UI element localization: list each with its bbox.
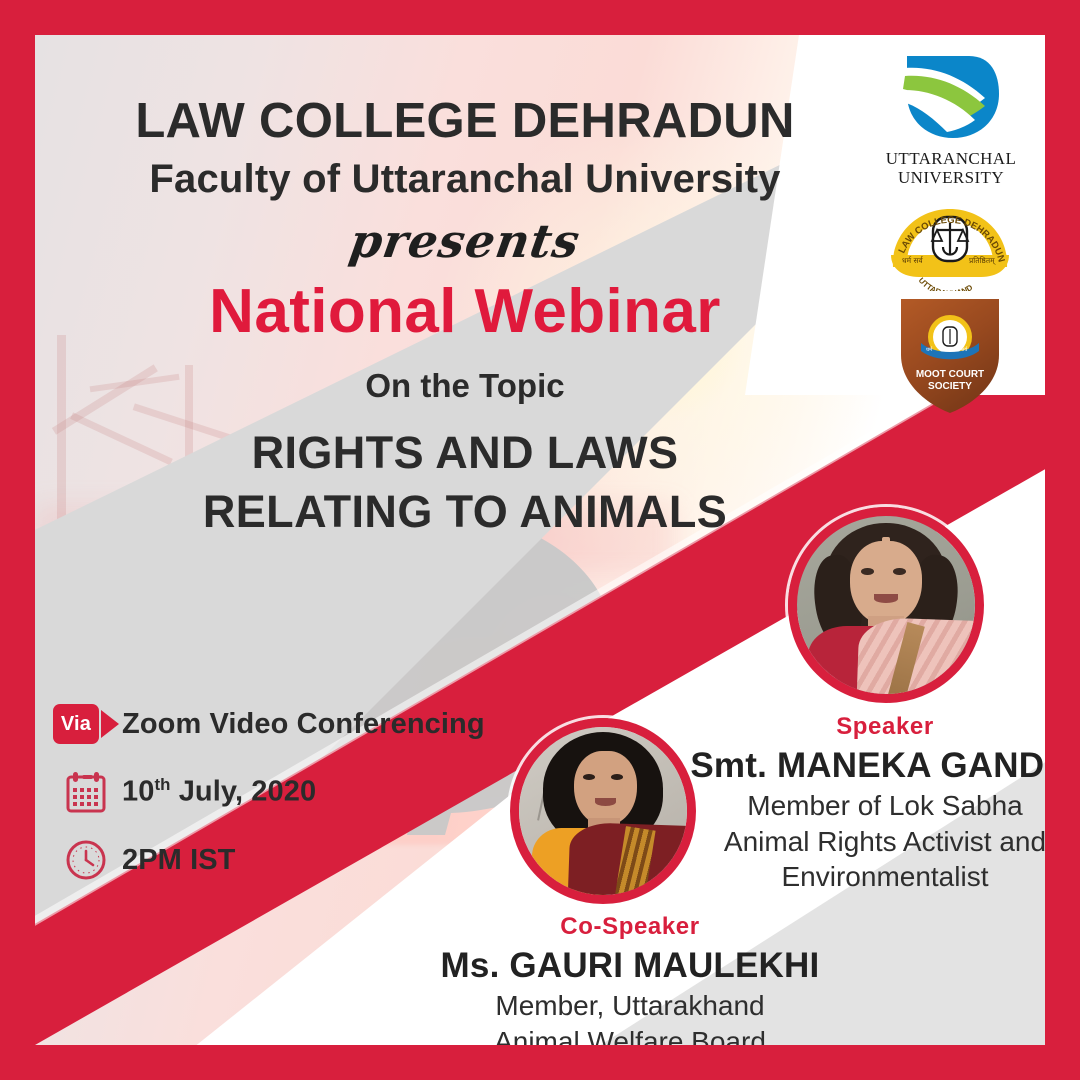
speaker-role-label: Speaker [690, 713, 1045, 741]
shield-line-1: MOOT COURT [916, 369, 984, 380]
topic-intro-label: On the Topic [35, 367, 895, 405]
time-text: 2PM IST [122, 844, 236, 877]
speaker-affiliation-line-1: Member of Lok Sabha [690, 788, 1045, 824]
cospeaker-name: Ms. GAURI MAULEKHI [410, 946, 850, 986]
university-swoosh-icon [899, 50, 1003, 142]
seal-ribbon-left: धर्म सर्व [902, 256, 924, 265]
cospeaker-affiliation-line-1: Member, Uttarakhand [410, 988, 850, 1024]
topic-line-2: RELATING TO ANIMALS [35, 482, 895, 541]
video-camera-icon: Via [50, 704, 122, 744]
date-day: 10 [122, 776, 154, 808]
detail-row-time: 2PM IST [50, 826, 520, 894]
event-type-heading: National Webinar [35, 276, 895, 347]
speaker-name: Smt. MANEKA GANDHI [690, 746, 1045, 786]
detail-row-platform: Via Zoom Video Conferencing [50, 690, 520, 758]
shield-line-2: SOCIETY [928, 381, 972, 392]
law-college-dehradun-seal: LAW COLLEGE DEHRADUN UTTARAKHAND धर्म सर… [885, 195, 1015, 291]
calendar-icon [50, 770, 122, 814]
date-ordinal: th [154, 775, 170, 794]
speaker-affiliation-line-2: Animal Rights Activist and [690, 824, 1045, 860]
svg-text:UTTARAKHAND: UTTARAKHAND [917, 276, 975, 291]
via-label: Via [53, 704, 99, 744]
moot-court-society-shield: धर्म सर्व MOOT COURT SOCIETY [897, 293, 1003, 417]
cospeaker-affiliation-line-2: Animal Welfare Board [410, 1024, 850, 1045]
clock-icon [50, 838, 122, 882]
event-details-list: Via Zoom Video Conferencing [50, 690, 520, 894]
faculty-subtitle: Faculty of Uttaranchal University [35, 158, 895, 200]
webinar-poster: LAW COLLEGE DEHRADUN Faculty of Uttaranc… [0, 0, 1080, 1080]
presents-script-text: presents [35, 214, 899, 268]
svg-text:सर्व: सर्व [961, 346, 968, 353]
cospeaker-role-label: Co-Speaker [410, 913, 850, 941]
camera-lens-triangle [101, 710, 119, 738]
uttaranchal-university-logo: UTTARANCHAL UNIVERSITY [885, 50, 1017, 187]
page-title: LAW COLLEGE DEHRADUN [35, 97, 895, 147]
speaker-portrait [788, 507, 984, 703]
date-text: 10th July, 2020 [122, 775, 316, 809]
university-name-line-2: UNIVERSITY [885, 168, 1017, 187]
speaker-info-block: Speaker Smt. MANEKA GANDHI Member of Lok… [690, 713, 1045, 895]
header-text-group: LAW COLLEGE DEHRADUN Faculty of Uttaranc… [35, 97, 895, 542]
cospeaker-info-block: Co-Speaker Ms. GAURI MAULEKHI Member, Ut… [410, 913, 850, 1045]
poster-canvas: LAW COLLEGE DEHRADUN Faculty of Uttaranc… [35, 35, 1045, 1045]
svg-text:धर्म: धर्म [926, 346, 933, 353]
university-name-line-1: UTTARANCHAL [885, 149, 1017, 168]
platform-text: Zoom Video Conferencing [122, 708, 485, 741]
date-rest: July, 2020 [171, 776, 317, 808]
detail-row-date: 10th July, 2020 [50, 758, 520, 826]
speaker-affiliation-line-3: Environmentalist [690, 859, 1045, 895]
cospeaker-portrait [510, 718, 696, 904]
seal-ribbon-right: प्रतिष्ठितम् [969, 256, 996, 265]
topic-line-1: RIGHTS AND LAWS [35, 423, 895, 482]
